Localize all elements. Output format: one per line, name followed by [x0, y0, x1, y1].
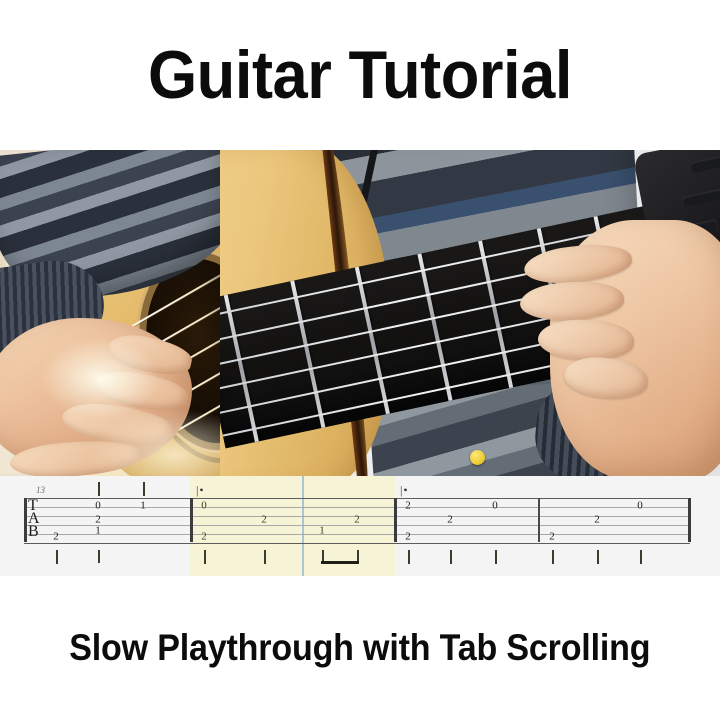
tab-clef: T A B [28, 499, 40, 538]
tab-note: 2 [404, 532, 412, 543]
note-stem [264, 550, 266, 564]
tab-note: 2 [548, 532, 556, 543]
tab-note: 1 [94, 526, 102, 537]
tab-note: 2 [446, 515, 454, 526]
tab-notation[interactable]: 13 T A B |• |• 2 0 2 1 1 0 2 2 1 2 2 2 [0, 476, 720, 576]
note-stem [143, 482, 145, 496]
video-thumbnail: Guitar Tutorial [0, 0, 720, 720]
caption-text: Slow Playthrough with Tab Scrolling [69, 627, 650, 669]
fretboard-photo [220, 150, 720, 476]
note-stem [597, 550, 599, 564]
title-band: Guitar Tutorial [0, 0, 720, 150]
barline-2 [394, 498, 397, 542]
note-stem [552, 550, 554, 564]
fret-marker-dot [470, 450, 485, 465]
note-stem [408, 550, 410, 564]
note-stem [204, 550, 206, 564]
repeat-mark-1: |• [196, 483, 205, 498]
page-title: Guitar Tutorial [148, 41, 572, 109]
tab-note: 0 [200, 501, 208, 512]
barline-1 [190, 498, 193, 542]
eighth-note-beam [321, 561, 359, 564]
tab-note: 0 [491, 501, 499, 512]
tab-note: 2 [52, 532, 60, 543]
repeat-mark-2: |• [400, 483, 409, 498]
note-stem [98, 482, 100, 496]
tab-note: 1 [139, 501, 147, 512]
note-stem [56, 550, 58, 564]
tab-note: 2 [260, 515, 268, 526]
string-line-5 [24, 534, 690, 535]
note-stem [98, 550, 100, 563]
note-stem [640, 550, 642, 564]
tab-note: 0 [636, 501, 644, 512]
string-line-2 [24, 507, 690, 508]
strumming-hand-photo [0, 150, 220, 476]
photo-strip [0, 150, 720, 476]
measure-number: 13 [36, 485, 45, 495]
note-stem [495, 550, 497, 564]
caption-band: Slow Playthrough with Tab Scrolling [0, 576, 720, 720]
note-stem [450, 550, 452, 564]
tab-note: 1 [318, 526, 326, 537]
barline-end [688, 498, 691, 542]
tab-note: 2 [404, 501, 412, 512]
tab-note: 2 [353, 515, 361, 526]
tab-clef-b: B [28, 525, 40, 538]
barline-start [24, 498, 27, 542]
tab-note: 2 [593, 515, 601, 526]
barline-3 [538, 498, 540, 542]
tab-note: 2 [200, 532, 208, 543]
tab-note: 0 [94, 501, 102, 512]
